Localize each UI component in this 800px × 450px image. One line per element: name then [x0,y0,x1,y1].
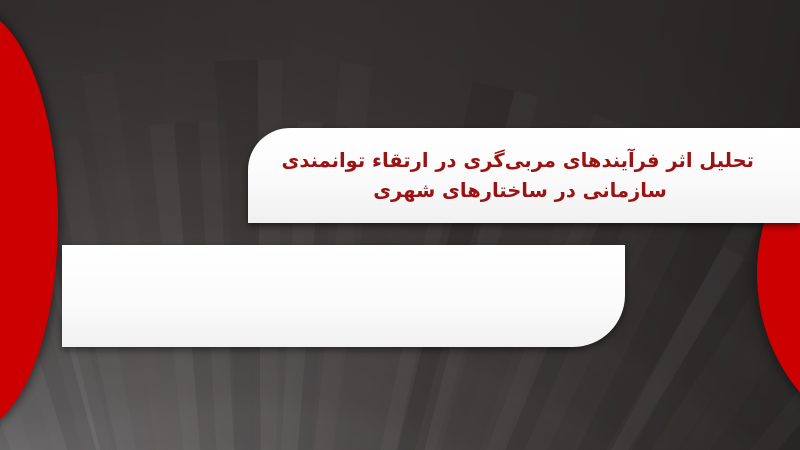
title-line-2: سازمانی در ساختارهای شهری [286,176,754,206]
subtitle-text [62,245,625,269]
title-slide: تحلیل اثر فرآیندهای مربی‌گری در ارتقاء ت… [0,0,800,450]
title-placeholder[interactable]: تحلیل اثر فرآیندهای مربی‌گری در ارتقاء ت… [248,128,800,223]
title-line-1: تحلیل اثر فرآیندهای مربی‌گری در ارتقاء ت… [286,146,754,176]
page-title: تحلیل اثر فرآیندهای مربی‌گری در ارتقاء ت… [248,146,800,205]
subtitle-placeholder[interactable] [62,245,625,347]
background-vignette [0,0,800,450]
